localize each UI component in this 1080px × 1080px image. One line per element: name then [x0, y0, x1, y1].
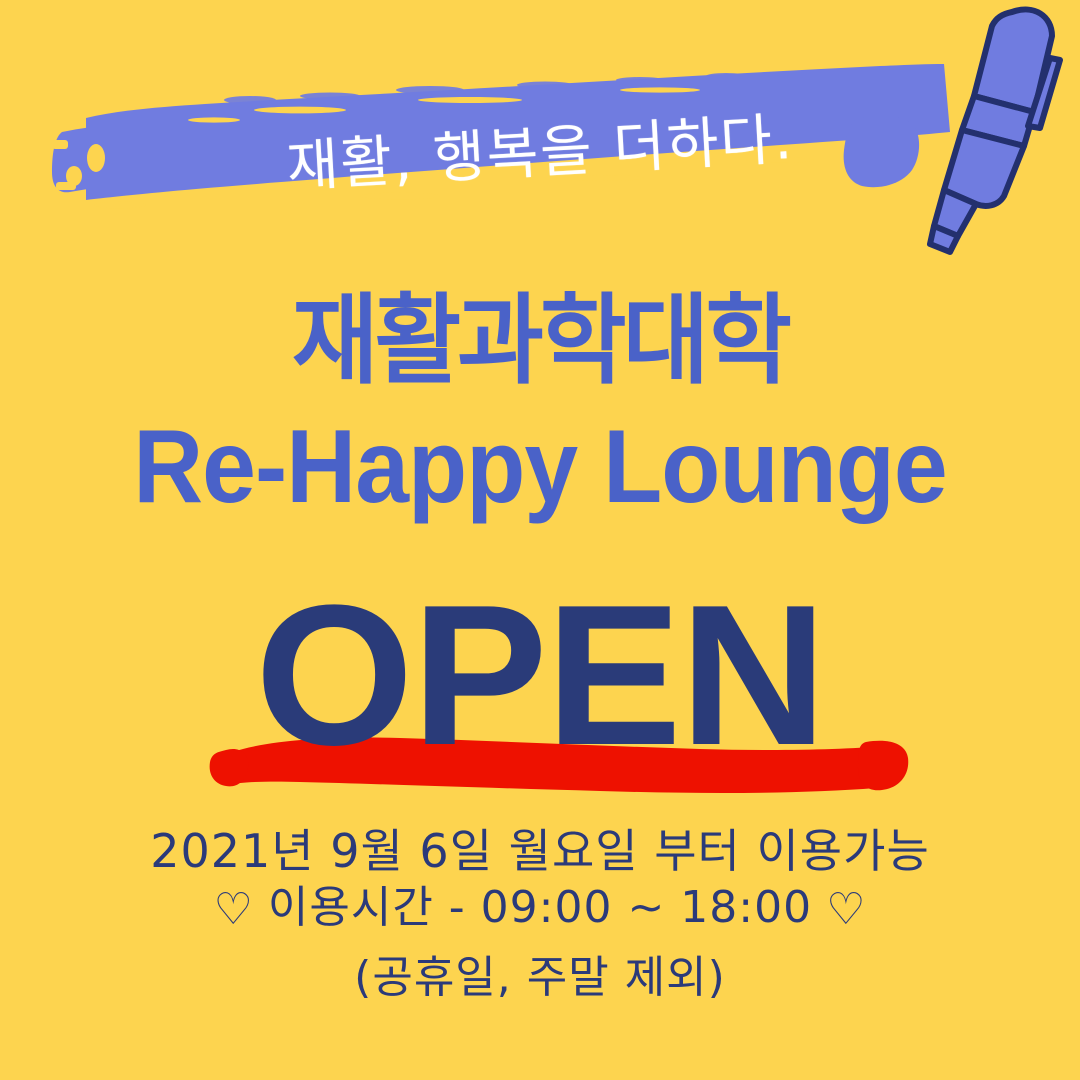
note-exclusions: (공휴일, 주말 제외)	[0, 944, 1080, 1012]
banner-region: 재활, 행복을 더하다.	[0, 0, 1080, 270]
english-title: Re-Happy Lounge	[38, 415, 1042, 519]
notes-block: 2021년 9월 6일 월요일 부터 이용가능 ♡이용시간 - 09:00 ~ …	[0, 828, 1080, 1012]
note-operating-hours: 이용시간 - 09:00 ~ 18:00	[268, 882, 812, 933]
open-status-block: OPEN	[0, 560, 1080, 820]
brush-stroke-icon	[0, 0, 1080, 270]
poster-canvas: 재활, 행복을 더하다. 재활과학대학 Re-Happy Lounge OPEN…	[0, 0, 1080, 1080]
heart-outline-icon-left: ♡	[213, 876, 253, 944]
note-availability-date: 2021년 9월 6일 월요일 부터 이용가능	[0, 828, 1080, 874]
heart-outline-icon-right: ♡	[826, 876, 866, 944]
korean-title: 재활과학대학	[22, 292, 1059, 390]
open-label: OPEN	[0, 576, 1080, 776]
note-operating-hours-row: ♡이용시간 - 09:00 ~ 18:00♡	[0, 874, 1080, 944]
